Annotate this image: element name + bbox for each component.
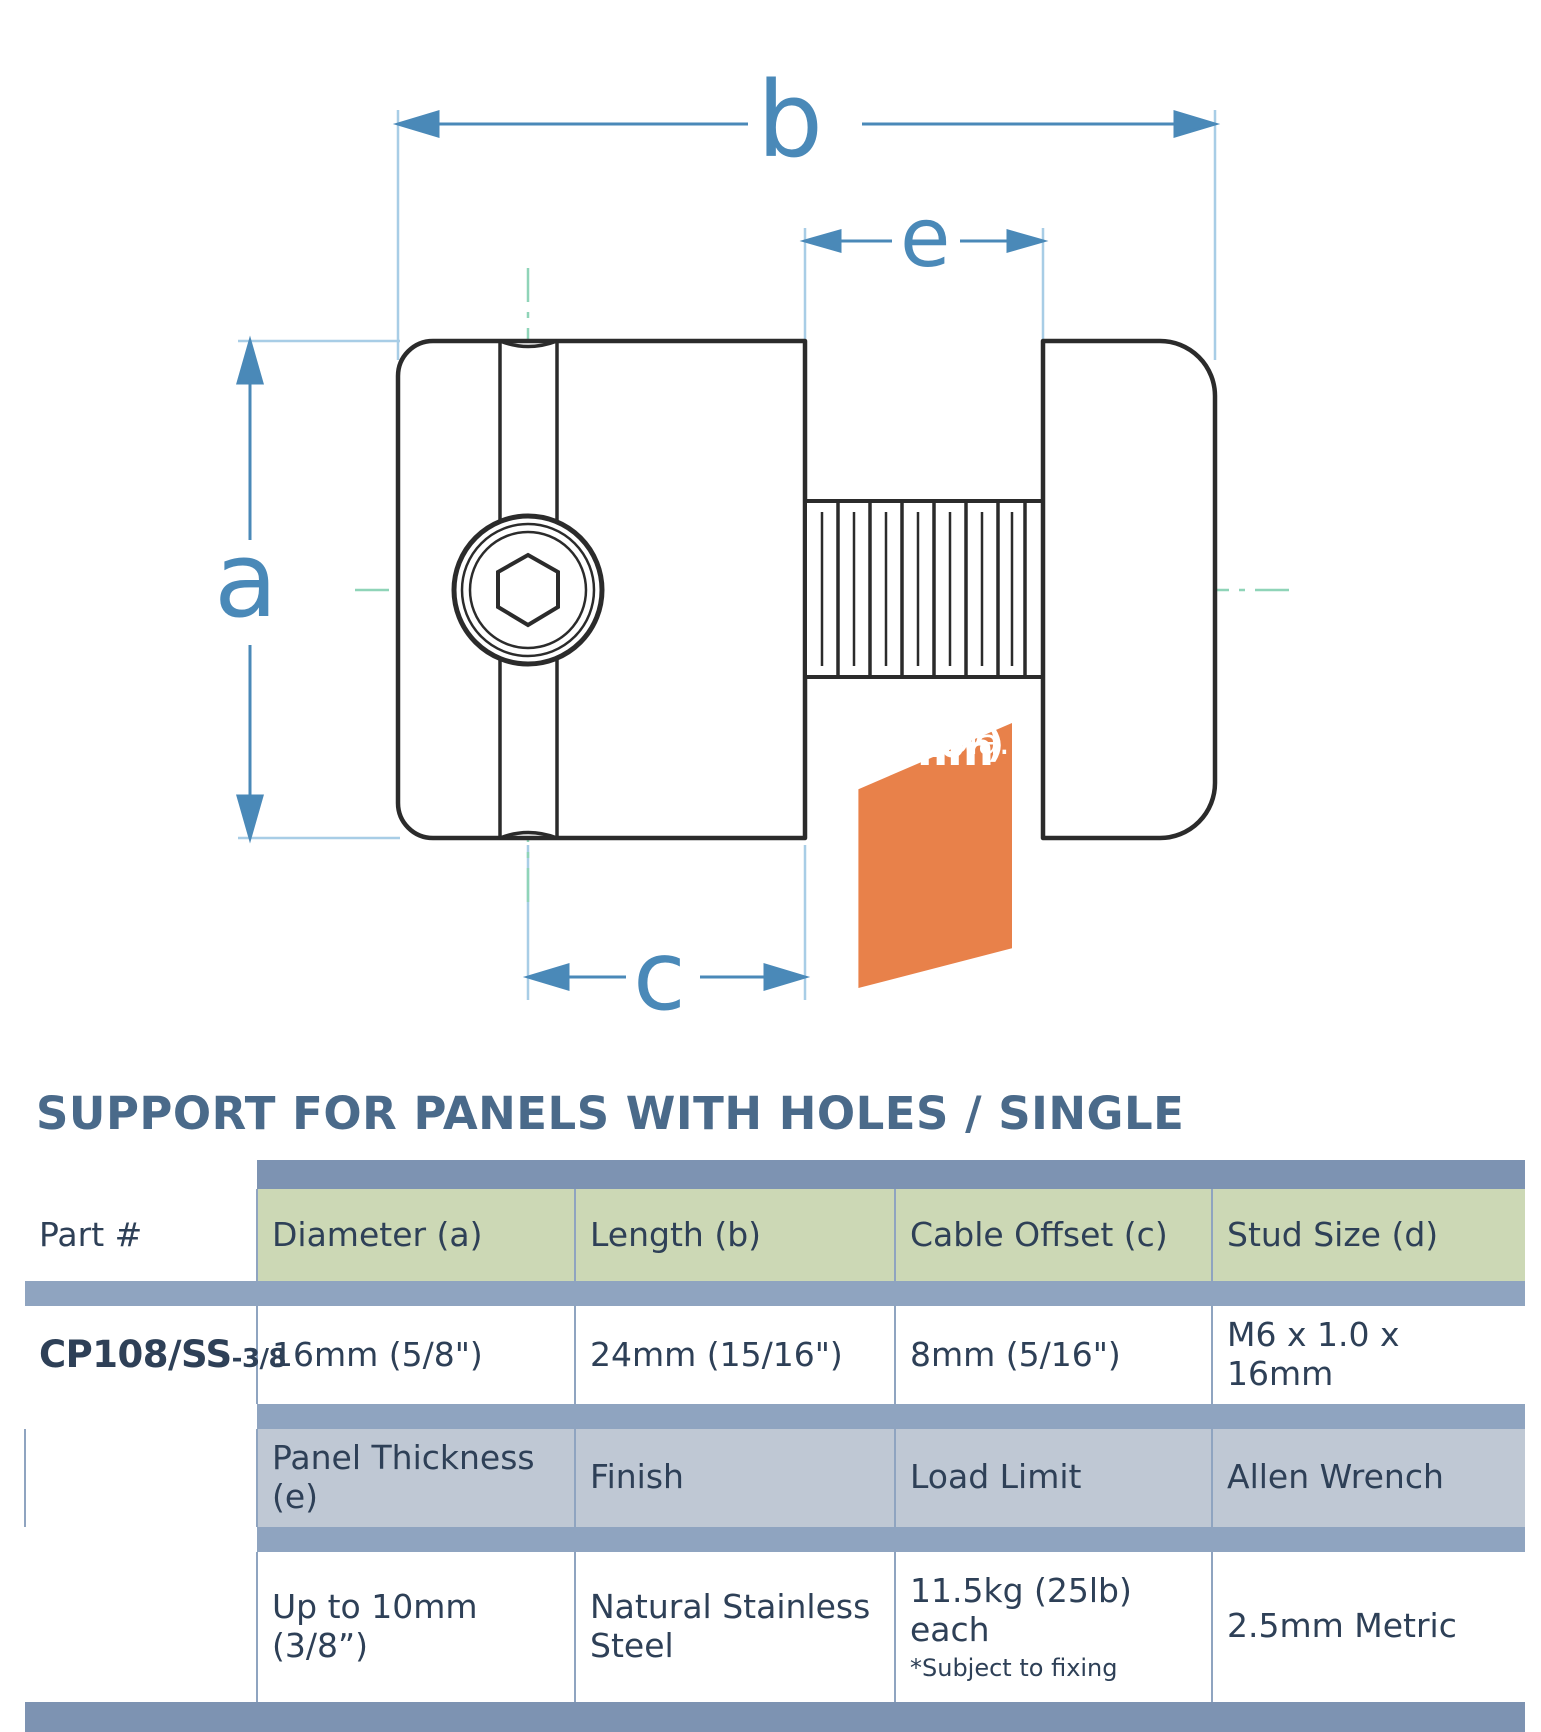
table-rule-3	[25, 1527, 1525, 1552]
cell-length: 24mm (15/16")	[575, 1306, 895, 1404]
top-bar-fill	[257, 1160, 1525, 1189]
header-allen-wrench: Allen Wrench	[1212, 1429, 1525, 1527]
callout-hole-dia-label: Hole Dia.	[852, 723, 1012, 763]
rule-2-gap	[25, 1404, 257, 1429]
header-finish: Finish	[575, 1429, 895, 1527]
table-top-bar	[25, 1160, 1525, 1189]
rule-2-fill	[257, 1404, 1525, 1429]
dimension-label-e: e	[900, 198, 950, 280]
load-limit-value: 11.5kg (25lb) each	[910, 1571, 1132, 1649]
technical-drawing: b e a c 8mm (5/16”) Hole Dia.	[0, 0, 1541, 1060]
header-load-limit: Load Limit	[895, 1429, 1212, 1527]
table-row: Up to 10mm (3/8”) Natural Stainless Stee…	[25, 1552, 1525, 1702]
header-part-number: Part #	[25, 1189, 257, 1281]
cell-load-limit: 11.5kg (25lb) each*Subject to fixing	[895, 1552, 1212, 1702]
rule-3-gap	[25, 1527, 257, 1552]
load-limit-note: *Subject to fixing	[910, 1654, 1197, 1682]
header-cable-offset: Cable Offset (c)	[895, 1189, 1212, 1281]
cap-outline	[1043, 341, 1215, 838]
cell-row-2-blank	[25, 1552, 257, 1702]
part-number-base: CP108/SS	[39, 1333, 232, 1376]
header-panel-thickness: Panel Thickness (e)	[257, 1429, 575, 1527]
cell-finish: Natural Stainless Steel	[575, 1552, 895, 1702]
rule-3-fill	[257, 1527, 1525, 1552]
table-rule-1	[25, 1281, 1525, 1306]
cell-stud-size: M6 x 1.0 x 16mm	[1212, 1306, 1525, 1404]
part-number-text: CP108/SS-3/8	[39, 1333, 286, 1376]
cell-allen-wrench: 2.5mm Metric	[1212, 1552, 1525, 1702]
hole-diameter-callout: 8mm (5/16”) Hole Dia.	[852, 723, 1012, 988]
specification-table: Part # Diameter (a) Length (b) Cable Off…	[24, 1160, 1525, 1732]
dimension-label-c: c	[633, 928, 686, 1024]
table-header-row-1: Part # Diameter (a) Length (b) Cable Off…	[25, 1189, 1525, 1281]
cell-panel-thickness: Up to 10mm (3/8”)	[257, 1552, 575, 1702]
top-bar-gap	[25, 1160, 257, 1189]
dimension-label-a: a	[214, 528, 278, 632]
cell-diameter: 16mm (5/8")	[257, 1306, 575, 1404]
table-bottom-bar	[25, 1702, 1525, 1732]
bottom-bar-fill	[25, 1702, 1525, 1732]
threaded-stud	[805, 501, 1043, 677]
header-diameter: Diameter (a)	[257, 1189, 575, 1281]
dimension-label-b: b	[757, 68, 823, 172]
cell-part-number: CP108/SS-3/8	[25, 1306, 257, 1404]
hex-socket-screw	[454, 516, 602, 664]
cell-cable-offset: 8mm (5/16")	[895, 1306, 1212, 1404]
rule-fill	[25, 1281, 1525, 1306]
header-stud-size: Stud Size (d)	[1212, 1189, 1525, 1281]
header-row-2-blank	[25, 1429, 257, 1527]
table-rule-2	[25, 1404, 1525, 1429]
table-row: CP108/SS-3/8 16mm (5/8") 24mm (15/16") 8…	[25, 1306, 1525, 1404]
table-header-row-2: Panel Thickness (e) Finish Load Limit Al…	[25, 1429, 1525, 1527]
page-title: SUPPORT FOR PANELS WITH HOLES / SINGLE	[36, 1087, 1184, 1140]
header-length: Length (b)	[575, 1189, 895, 1281]
